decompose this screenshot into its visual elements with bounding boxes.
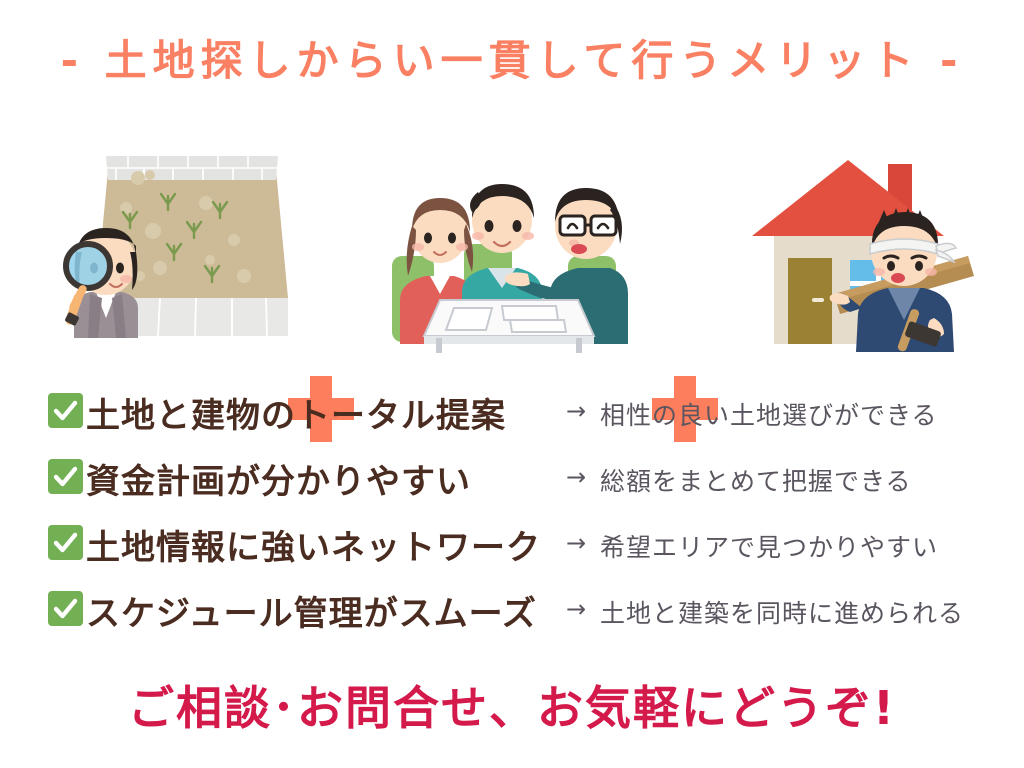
consultation-illustration <box>378 148 628 353</box>
check-icon <box>48 525 83 560</box>
benefit-result: 希望エリアで見つかりやすい <box>600 528 938 564</box>
illustration-strip <box>0 148 1024 353</box>
benefit-result: 土地と建築を同時に進められる <box>600 594 964 630</box>
benefit-label: スケジュール管理がスムーズ <box>86 586 537 635</box>
arrow-icon: → <box>566 595 586 623</box>
check-icon <box>48 393 83 428</box>
cta-text: ご相談･お問合せ、お気軽にどうぞ! <box>128 672 896 738</box>
house-construction-illustration <box>738 148 978 353</box>
check-icon <box>48 459 83 494</box>
benefit-label: 資金計画が分かりやすい <box>86 454 471 503</box>
benefit-result: 総額をまとめて把握できる <box>600 462 912 498</box>
page-title: - 土地探しからい一貫して行うメリット - <box>0 40 1024 82</box>
meeting-table <box>424 300 594 353</box>
benefit-row: 土地情報に強いネットワーク → 希望エリアで見つかりやすい <box>0 514 1024 580</box>
benefit-label: 土地情報に強いネットワーク <box>86 520 541 569</box>
benefit-row: 土地と建物のトータル提案 → 相性の良い土地選びができる <box>0 382 1024 448</box>
land-search-illustration <box>48 148 288 353</box>
benefit-result: 相性の良い土地選びができる <box>600 396 938 432</box>
page-title-text: - 土地探しからい一貫して行うメリット - <box>61 40 964 82</box>
benefit-row: 資金計画が分かりやすい → 総額をまとめて把握できる <box>0 448 1024 514</box>
benefit-row: スケジュール管理がスムーズ → 土地と建築を同時に進められる <box>0 580 1024 646</box>
cta-banner: ご相談･お問合せ、お気軽にどうぞ! <box>0 672 1024 738</box>
check-icon <box>48 591 83 626</box>
woman-figure <box>64 228 138 338</box>
arrow-icon: → <box>566 529 586 557</box>
arrow-icon: → <box>566 463 586 491</box>
arrow-icon: → <box>566 397 586 425</box>
benefit-label: 土地と建物のトータル提案 <box>86 388 506 437</box>
benefits-list: 土地と建物のトータル提案 → 相性の良い土地選びができる 資金計画が分かりやすい… <box>0 382 1024 646</box>
